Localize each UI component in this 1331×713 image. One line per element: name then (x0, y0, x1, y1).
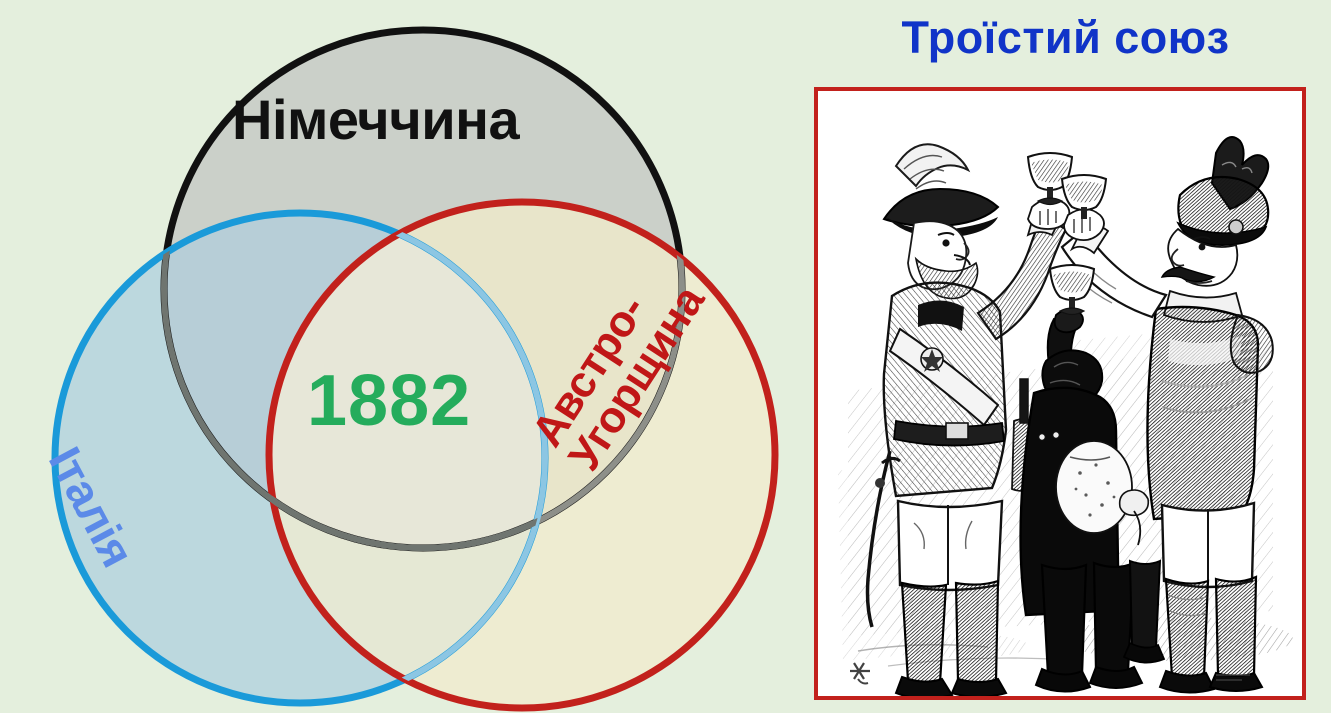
venn-year-value: 1882 (307, 365, 471, 437)
venn-label-germany: Німеччина (232, 92, 519, 148)
page-title: Троїстий союз (800, 12, 1331, 64)
cartoon-frame (814, 87, 1306, 700)
cartoon-illustration (818, 91, 1302, 696)
venn-diagram: Німеччина Італія Австро-Угорщина 1882 (0, 0, 800, 713)
slide-root: Німеччина Італія Австро-Угорщина 1882 Тр… (0, 0, 1331, 713)
alliance-panel: Троїстий союз (800, 0, 1331, 713)
